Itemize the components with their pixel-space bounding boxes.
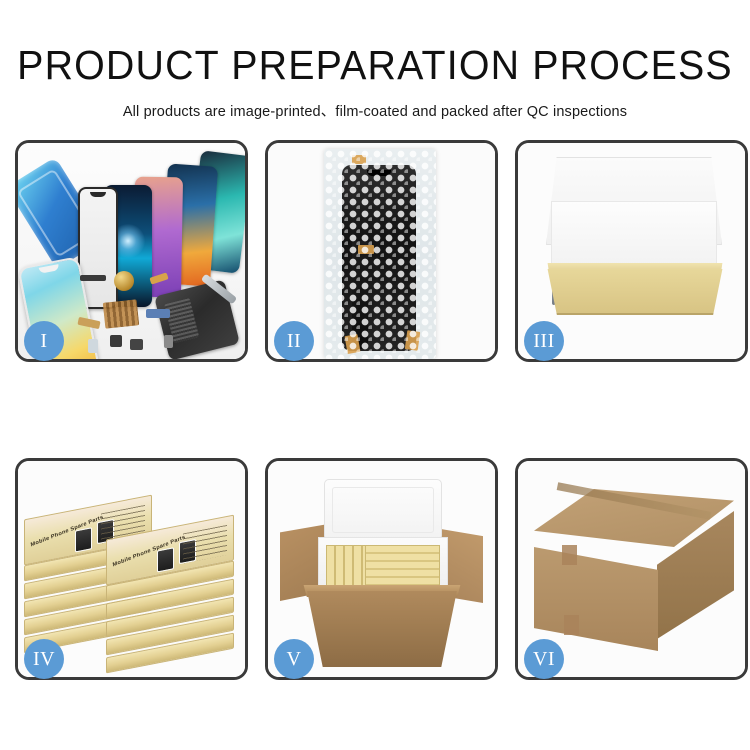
box-screen-image [157,547,174,572]
small-part [164,335,173,348]
step-panel-4: Mobile Phone Spare Parts Mobile Phone Sp… [15,458,248,680]
box-screen-image [75,527,92,552]
tape-tab [564,615,579,635]
step-panel-6: VI [515,458,748,680]
page-subtitle: All products are image-printed、film-coat… [0,100,750,121]
step-badge-3: III [524,321,564,361]
page-title: PRODUCT PREPARATION PROCESS [15,44,735,87]
chip-grid-part [103,299,140,328]
foam-cooler-lid [324,479,442,541]
bubble-wrap-sleeve [324,149,436,359]
tape-tab [562,545,577,565]
step-panel-3: III [515,140,748,362]
carton-body [304,591,460,667]
small-part [110,335,122,347]
small-part [80,275,106,281]
step-badge-2: II [274,321,314,361]
yellow-boxes-left [326,545,366,591]
product-preparation-infographic: PRODUCT PREPARATION PROCESS All products… [0,0,750,750]
small-part [88,339,98,353]
bubble-texture [324,149,436,359]
small-part [146,309,170,318]
box-bullet-text [183,525,227,564]
step-badge-5: V [274,639,314,679]
step-panel-1: I [15,140,248,362]
step-panel-5: V [265,458,498,680]
header: PRODUCT PREPARATION PROCESS All products… [0,0,750,121]
coin-part [114,271,134,291]
process-steps-grid: I II [15,140,737,680]
foam-sheet [551,201,717,273]
step-panel-2: II [265,140,498,362]
small-part [130,339,143,350]
kraft-box-body [542,269,728,315]
step-badge-6: VI [524,639,564,679]
step-badge-4: IV [24,639,64,679]
step-badge-1: I [24,321,64,361]
